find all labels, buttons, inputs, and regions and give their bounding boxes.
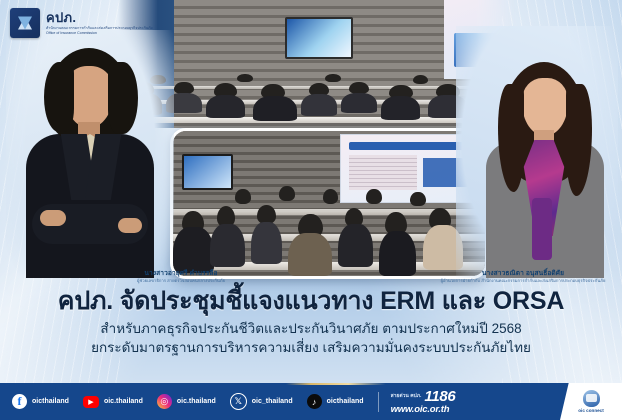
facebook-icon: f — [12, 394, 27, 409]
headline-sub2: ยกระดับมาตรฐานการบริหารความเสี่ยง เสริมค… — [0, 338, 622, 357]
oic-connect-label: oic connect — [578, 408, 604, 413]
social-facebook[interactable]: f oicthailand — [12, 394, 69, 409]
hotline-block[interactable]: สายด่วน คปภ. 1186 www.oic.or.th — [391, 389, 456, 415]
brand-logo-text: คปภ. สำนักงานคณะกรรมการกำกับและส่งเสริมก… — [46, 11, 153, 36]
photo-wall-monitor — [182, 154, 233, 190]
oic-connect-badge[interactable]: oic connect — [560, 383, 622, 420]
social-x[interactable]: 𝕏 oic_thailand — [230, 393, 293, 410]
headline-sub1: สำหรับภาคธุรกิจประกันชีวิตและประกันวินาศ… — [0, 319, 622, 338]
portrait-right — [456, 26, 618, 278]
youtube-handle: oic.thailand — [104, 398, 143, 405]
person-right-role: ผู้อำนวยการฝ่ายกำกับ สำนักงานคณะกรรมการก… — [434, 278, 612, 284]
instagram-handle: oic.thailand — [177, 398, 216, 405]
oic-connect-shield-icon — [583, 390, 600, 407]
x-twitter-icon: 𝕏 — [230, 393, 247, 410]
instagram-icon: ◎ — [157, 394, 172, 409]
tiktok-handle: oicthailand — [327, 398, 364, 405]
footer-bar: f oicthailand ▶ oic.thailand ◎ oic.thail… — [0, 383, 622, 420]
brand-logo: คปภ. สำนักงานคณะกรรมการกำกับและส่งเสริมก… — [10, 8, 153, 38]
headline-title: คปภ. จัดประชุมชี้แจงแนวทาง ERM และ ORSA — [0, 286, 622, 316]
social-tiktok[interactable]: ♪ oicthailand — [307, 394, 364, 409]
brand-fullname-line1: สำนักงานคณะกรรมการกำกับและส่งเสริมการประ… — [46, 26, 153, 31]
caption-left: นางสาวอายุศรี คำบรรลือ ผู้ช่วยเลขาธิการ … — [112, 269, 250, 284]
social-youtube[interactable]: ▶ oic.thailand — [83, 396, 143, 408]
caption-right: นางสาวธณิตา อนุสนธิ์อดิศัย ผู้อำนวยการฝ่… — [434, 269, 612, 284]
facebook-handle: oicthailand — [32, 398, 69, 405]
person-right-figure — [482, 58, 608, 278]
person-left-figure — [20, 42, 160, 278]
tiktok-icon: ♪ — [307, 394, 322, 409]
footer-divider — [378, 392, 379, 412]
gold-accent-line — [0, 383, 622, 385]
hotline-label: สายด่วน คปภ. — [391, 393, 422, 400]
social-instagram[interactable]: ◎ oic.thailand — [157, 394, 216, 409]
person-left-name: นางสาวอายุศรี คำบรรลือ — [112, 269, 250, 278]
headline-block: คปภ. จัดประชุมชี้แจงแนวทาง ERM และ ORSA … — [0, 286, 622, 357]
person-right-name: นางสาวธณิตา อนุสนธิ์อดิศัย — [434, 269, 612, 278]
oic-diamond-logo-icon — [10, 8, 40, 38]
person-left-role: ผู้ช่วยเลขาธิการ สายตรวจสอบคนกลางประกันภ… — [112, 278, 250, 284]
card-canvas: นางสาวอายุศรี คำบรรลือ ผู้ช่วยเลขาธิการ … — [0, 0, 622, 383]
portrait-left — [6, 30, 174, 278]
news-card: นางสาวอายุศรี คำบรรลือ ผู้ช่วยเลขาธิการ … — [0, 0, 622, 420]
website-url[interactable]: www.oic.or.th — [391, 405, 456, 415]
brand-fullname-line2: Office of Insurance Commission — [46, 31, 153, 36]
hotline-number: 1186 — [424, 389, 455, 404]
youtube-icon: ▶ — [83, 396, 99, 408]
main-photo — [170, 128, 488, 279]
brand-abbr: คปภ. — [46, 11, 153, 24]
x-handle: oic_thailand — [252, 398, 293, 405]
